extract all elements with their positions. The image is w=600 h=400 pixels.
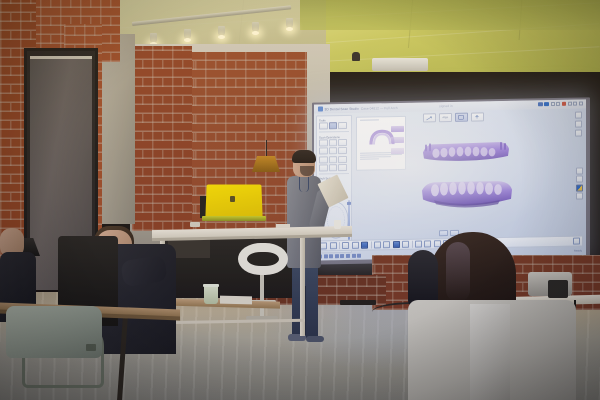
- tool-mirror[interactable]: [319, 156, 328, 163]
- view-pan-icon[interactable]: [575, 129, 582, 136]
- track-light-spot-3: [218, 26, 225, 36]
- status-icon-7[interactable]: [352, 253, 356, 257]
- audience-right-hair-highlight: [446, 242, 470, 302]
- tool-axis[interactable]: [338, 164, 347, 171]
- tool-margin[interactable]: [329, 164, 338, 171]
- status-text: Ready: [574, 249, 582, 252]
- presenter-lanyard: [299, 176, 309, 192]
- sync-icon[interactable]: [544, 102, 549, 107]
- move-icon: [426, 116, 432, 120]
- tool-group-primary: [317, 122, 351, 130]
- toolbar-fill-icon[interactable]: [383, 241, 390, 248]
- brick-wall-mid: [132, 46, 192, 231]
- settings-icon[interactable]: [556, 102, 560, 106]
- desk-device: [190, 222, 200, 227]
- lower-arch-model[interactable]: [418, 177, 516, 213]
- toolbar-trim-icon[interactable]: [374, 241, 381, 248]
- scan-preview-card: [356, 116, 406, 171]
- presenter-beard: [300, 166, 314, 176]
- toolbar-align-icon[interactable]: [393, 241, 400, 248]
- track-light-spot-1: [150, 33, 157, 43]
- ribbon-export-tool[interactable]: [471, 112, 484, 121]
- toolbar-fullscreen-icon[interactable]: [573, 238, 580, 245]
- tool-measure[interactable]: [319, 164, 328, 171]
- tool-sharpen[interactable]: [338, 147, 347, 154]
- ribbon-align-tool[interactable]: Align: [439, 113, 452, 122]
- view-rotate-icon[interactable]: [575, 111, 582, 118]
- tool-smooth[interactable]: [329, 148, 338, 155]
- bar-stool-post: [260, 272, 264, 318]
- toolbar-scan-icon[interactable]: [361, 242, 368, 249]
- shoulder-bag-buckle: [86, 344, 96, 351]
- toolbar-measure-icon[interactable]: [415, 241, 422, 248]
- coffee-cup: [204, 286, 218, 304]
- lower-arch-thumb[interactable]: [391, 137, 404, 143]
- density-slider-knob[interactable]: [347, 202, 352, 205]
- power-strip: [340, 300, 376, 305]
- projection-screen: 3D Dental Scan Studio Case 04812 — Full …: [314, 99, 586, 260]
- right-desk-device: [548, 280, 568, 298]
- ribbon-occlusion-tool[interactable]: [455, 113, 468, 122]
- upper-arch-model[interactable]: [420, 137, 512, 165]
- help-icon[interactable]: [551, 102, 555, 106]
- presenter-hair: [292, 150, 316, 163]
- bite-thumb[interactable]: [391, 148, 404, 154]
- card-note-line-1: [360, 152, 391, 153]
- tool-scan-lower[interactable]: [329, 139, 338, 146]
- card-heading-bar: [360, 119, 379, 120]
- export-icon: [474, 114, 480, 119]
- minimize-button[interactable]: [568, 102, 572, 106]
- status-right-group: Ready: [574, 249, 582, 252]
- close-button[interactable]: [579, 101, 583, 105]
- bar-stool-seat[interactable]: [238, 243, 288, 275]
- track-light-spot-2: [184, 29, 191, 39]
- ceiling-panel-right: [300, 0, 600, 30]
- toolbar-color-icon[interactable]: [424, 240, 431, 247]
- quick-action-icon[interactable]: [538, 102, 543, 107]
- desk-cup: [334, 220, 341, 229]
- window-controls: [538, 101, 583, 106]
- measure-icon[interactable]: [576, 193, 583, 200]
- document-name: Case 04812 — Full Arch: [361, 106, 398, 111]
- app-ribbon: Align: [423, 112, 484, 122]
- toolbar-redo-icon[interactable]: [352, 242, 359, 249]
- status-icon-4[interactable]: [335, 254, 339, 258]
- status-icon-5[interactable]: [340, 254, 344, 258]
- status-icon-6[interactable]: [346, 253, 350, 257]
- air-conditioner: [372, 58, 428, 71]
- toolbar-undo-icon[interactable]: [342, 242, 349, 249]
- tool-rescan[interactable]: [319, 148, 328, 155]
- audience-right-chair-fold: [470, 304, 510, 400]
- track-light-spot-4: [252, 22, 259, 32]
- ribbon-transform-tool[interactable]: [423, 113, 436, 122]
- viewport-nav-controls: [575, 111, 582, 136]
- tool-group-scan: [317, 139, 351, 171]
- tool-redo[interactable]: [338, 156, 347, 163]
- status-icon-8[interactable]: [357, 253, 361, 257]
- laptop-base: [202, 216, 266, 221]
- desk-notes: [220, 296, 252, 305]
- scene-root: 3D Dental Scan Studio Case 04812 — Full …: [0, 0, 600, 400]
- tool-fill[interactable]: [338, 122, 347, 129]
- alert-icon[interactable]: [562, 101, 567, 106]
- toolbar-smooth-icon[interactable]: [402, 241, 409, 248]
- mode-upper-chip[interactable]: [439, 230, 448, 236]
- laptop-logo-icon: [230, 196, 235, 202]
- tool-scan-bite[interactable]: [338, 139, 347, 146]
- upper-arch-thumb[interactable]: [391, 126, 404, 132]
- card-note-line-4: [360, 158, 379, 159]
- ribbon-align-label: Align: [442, 116, 448, 119]
- presenter-shoe-right: [306, 336, 324, 342]
- app-right-toolbar: [576, 167, 583, 199]
- track-light-spot-5: [286, 18, 293, 28]
- status-icon-2[interactable]: [324, 254, 328, 258]
- app-title-group: 3D Dental Scan Studio Case 04812 — Full …: [318, 105, 398, 111]
- toolbar-open-icon[interactable]: [320, 242, 327, 249]
- render-mode-icon[interactable]: [576, 176, 583, 183]
- card-note-line-3: [360, 156, 391, 157]
- titlebar-center-label: signed in: [439, 104, 453, 108]
- toolbar-save-icon[interactable]: [330, 242, 337, 249]
- pendant-lamp-cord: [266, 140, 267, 158]
- coffee-cup-lid: [203, 284, 219, 287]
- tool-undo[interactable]: [329, 156, 338, 163]
- status-icon-3[interactable]: [329, 254, 333, 258]
- desk-paper: [276, 224, 290, 228]
- bite-icon: [458, 115, 464, 120]
- security-camera-icon: [352, 52, 360, 61]
- app-logo-icon: [318, 107, 323, 112]
- tool-trim[interactable]: [329, 122, 338, 129]
- tool-select[interactable]: [319, 122, 328, 129]
- view-zoom-icon[interactable]: [575, 120, 582, 127]
- tool-scan-upper[interactable]: [319, 140, 328, 147]
- maximize-button[interactable]: [573, 101, 577, 105]
- app-name: 3D Dental Scan Studio: [325, 106, 359, 111]
- view-cube-icon[interactable]: [576, 167, 583, 174]
- color-map-icon[interactable]: [576, 184, 583, 191]
